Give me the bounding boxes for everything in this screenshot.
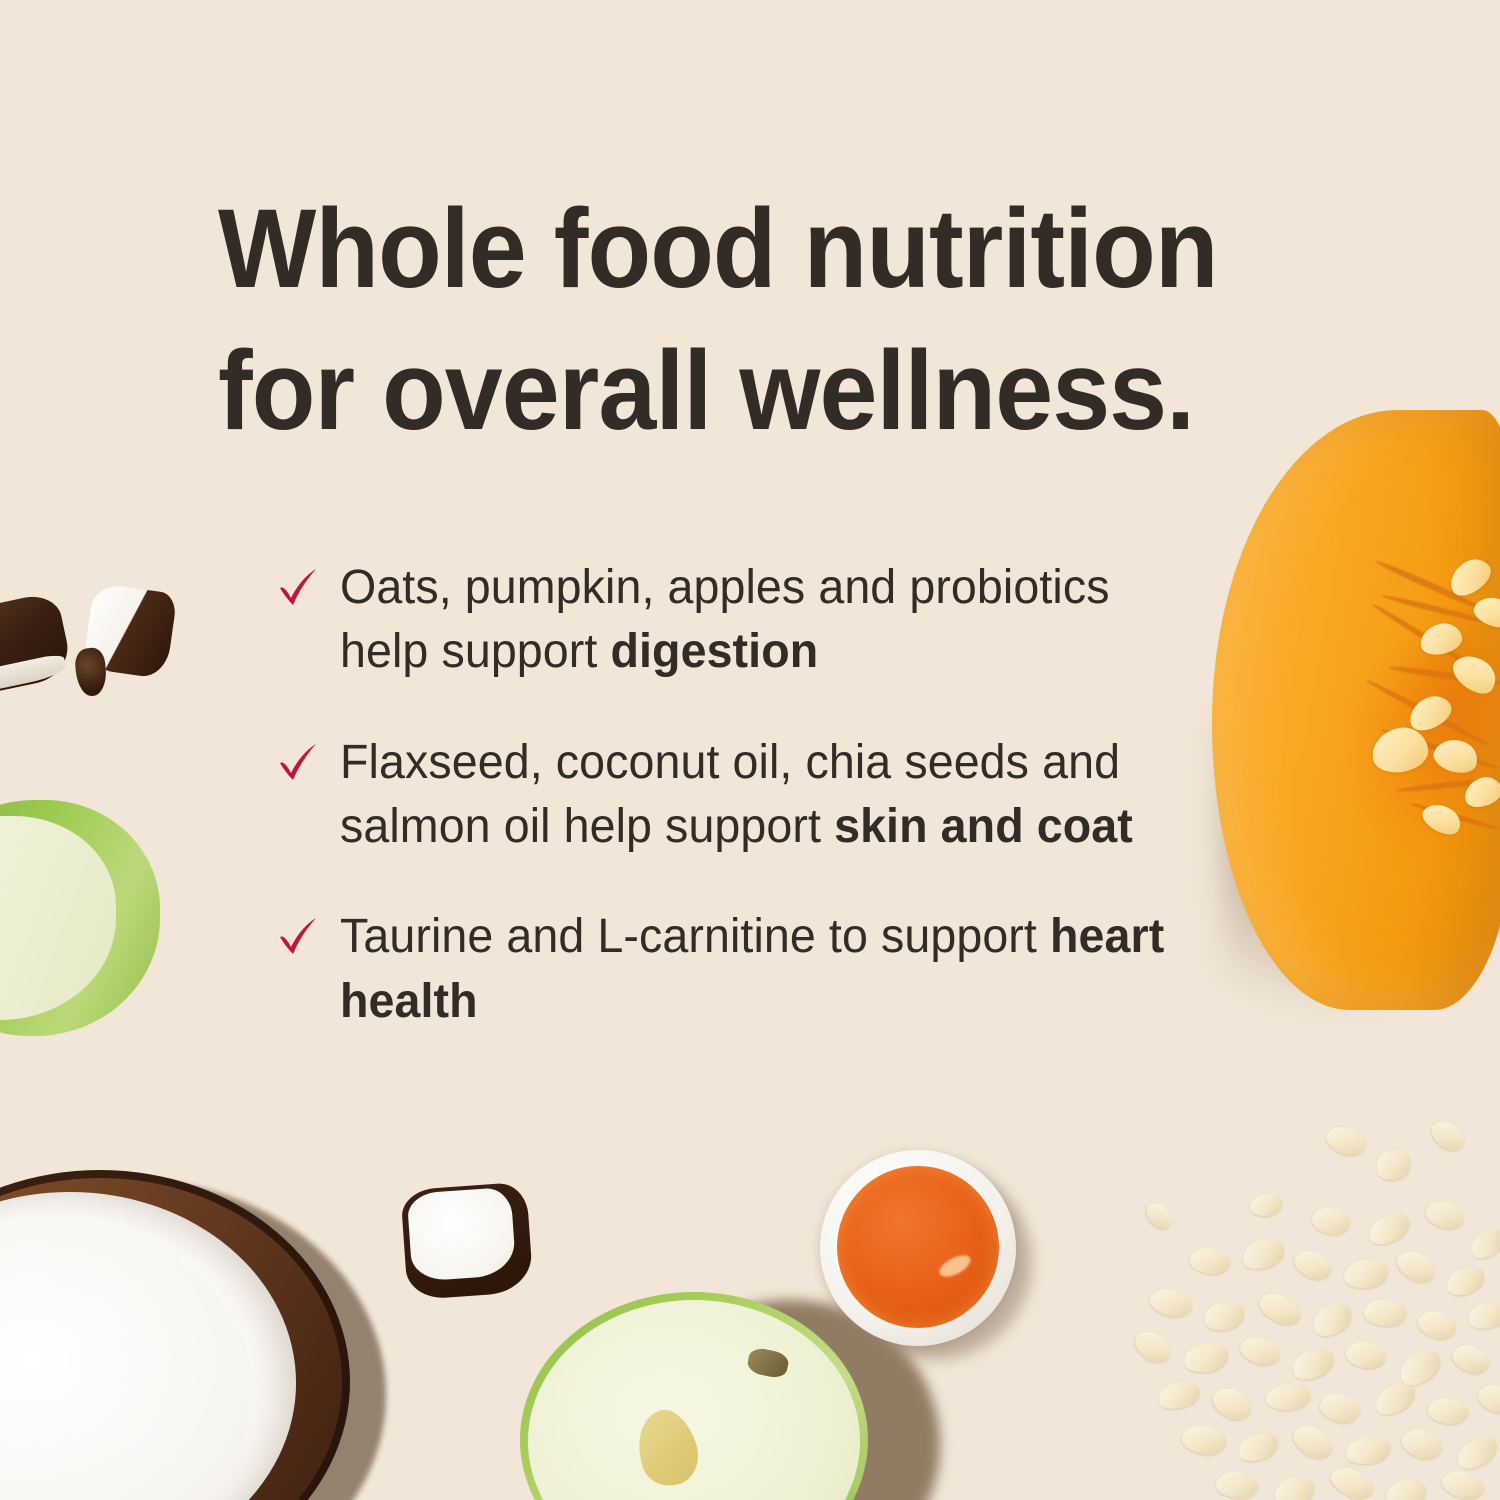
check-icon xyxy=(276,566,320,610)
pumpkin-wedge-photo xyxy=(1212,410,1500,1010)
list-item: Oats, pumpkin, apples and probiotics hel… xyxy=(276,556,1236,685)
benefit-text-3: Taurine and L-carnitine to support xyxy=(340,910,1050,963)
benefit-emphasis-1: digestion xyxy=(610,625,818,678)
page-title: Whole food nutrition for overall wellnes… xyxy=(218,178,1241,462)
pumpkin-flesh xyxy=(1212,410,1500,1010)
list-item-text: Flaxseed, coconut oil, chia seeds and sa… xyxy=(340,731,1209,860)
list-item-text: Taurine and L-carnitine to support heart… xyxy=(340,905,1209,1034)
coconut-chunk-photo xyxy=(0,591,74,695)
salmon-oil-bowl-photo xyxy=(820,1150,1030,1360)
list-item: Flaxseed, coconut oil, chia seeds and sa… xyxy=(276,731,1236,860)
green-apple-slice-photo xyxy=(0,800,160,1036)
headline-line-2: for overall wellness. xyxy=(218,320,1241,462)
check-icon xyxy=(276,915,320,959)
benefits-list: Oats, pumpkin, apples and probiotics hel… xyxy=(276,556,1236,1034)
check-icon xyxy=(276,741,320,785)
salmon-oil-liquid xyxy=(837,1166,999,1328)
marketing-hero-banner: Whole food nutrition for overall wellnes… xyxy=(0,0,1500,1500)
list-item-text: Oats, pumpkin, apples and probiotics hel… xyxy=(340,556,1209,685)
list-item: Taurine and L-carnitine to support heart… xyxy=(276,905,1236,1034)
rolled-oats-photo xyxy=(1130,1120,1500,1500)
coconut-chunk-photo xyxy=(400,1182,533,1301)
headline-line-1: Whole food nutrition xyxy=(218,178,1241,320)
benefit-emphasis-2: skin and coat xyxy=(834,800,1133,853)
coconut-half-photo xyxy=(0,1170,370,1500)
